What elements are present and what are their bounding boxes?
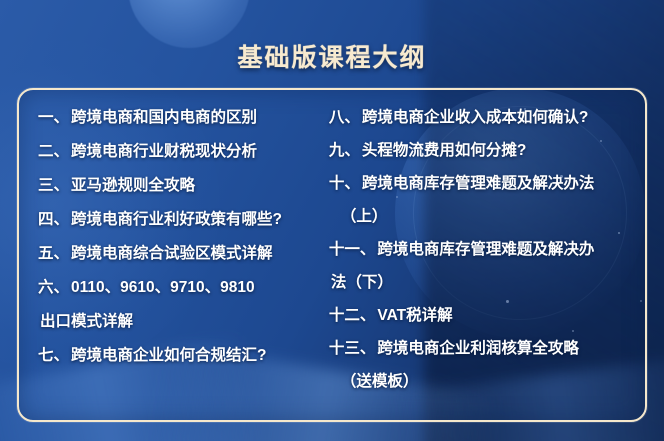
outline-item-label: 跨境电商企业收入成本如何确认? [362,110,588,126]
outline-left-column: 一、 跨境电商和国内电商的区别 二、 跨境电商行业财税现状分析 三、 亚马逊规则… [27,110,327,412]
outline-item-number: 六、 [38,280,69,296]
outline-columns: 一、 跨境电商和国内电商的区别 二、 跨境电商行业财税现状分析 三、 亚马逊规则… [17,88,647,422]
outline-item-label: （送模板） [341,374,419,390]
outline-item-number: 十一、 [329,242,376,258]
outline-item-number: 八、 [329,110,360,126]
course-outline-poster: 基础版课程大纲 一、 跨境电商和国内电商的区别 二、 跨境电商行业财税现状分析 … [0,0,664,441]
outline-item-label: 头程物流费用如何分摊? [362,143,526,159]
outline-item: 九、 头程物流费用如何分摊? [329,143,637,176]
outline-item-label: 跨境电商企业利润核算全攻略 [377,341,579,357]
outline-item-label: （上） [341,209,388,225]
outline-item-number: 三、 [38,178,69,194]
outline-item-number: 五、 [38,246,69,262]
page-title: 基础版课程大纲 [0,38,664,74]
outline-item-continuation: （送模板） [329,374,637,407]
outline-item-continuation: 出口模式详解 [38,314,327,348]
outline-item-label: VAT税详解 [377,308,452,324]
outline-item-label: 跨境电商综合试验区模式详解 [71,246,273,262]
outline-item: 六、 0110、9610、9710、9810 [38,280,327,314]
outline-item: 十、 跨境电商库存管理难题及解决办法 [329,176,637,209]
outline-item-number: 四、 [38,212,69,228]
outline-item: 五、 跨境电商综合试验区模式详解 [38,246,327,280]
outline-item-label: 跨境电商库存管理难题及解决办 [377,242,594,258]
outline-item: 七、 跨境电商企业如何合规结汇? [38,348,327,382]
outline-item-label: 法（下） [331,275,393,291]
outline-item: 十三、 跨境电商企业利润核算全攻略 [329,341,637,374]
outline-item-number: 十、 [329,176,360,192]
outline-item: 二、 跨境电商行业财税现状分析 [38,144,327,178]
outline-item: 十一、 跨境电商库存管理难题及解决办 [329,242,637,275]
outline-item: 四、 跨境电商行业利好政策有哪些? [38,212,327,246]
outline-item: 一、 跨境电商和国内电商的区别 [38,110,327,144]
outline-item-number: 九、 [329,143,360,159]
outline-item-label: 亚马逊规则全攻略 [71,178,195,194]
outline-item-number: 一、 [38,110,69,126]
outline-item-number: 十二、 [329,308,376,324]
outline-item-label: 跨境电商和国内电商的区别 [71,110,257,126]
outline-item-number: 七、 [38,348,69,364]
outline-item-label: 跨境电商行业财税现状分析 [71,144,257,160]
outline-item-label: 跨境电商企业如何合规结汇? [71,348,266,364]
outline-item-continuation: 法（下） [329,275,637,308]
outline-item-label: 0110、9610、9710、9810 [71,280,255,296]
outline-item-continuation: （上） [329,209,637,242]
outline-item: 十二、 VAT税详解 [329,308,637,341]
outline-item-number: 二、 [38,144,69,160]
outline-item-label: 出口模式详解 [40,314,133,330]
outline-right-column: 八、 跨境电商企业收入成本如何确认? 九、 头程物流费用如何分摊? 十、 跨境电… [327,110,637,412]
outline-item-label: 跨境电商库存管理难题及解决办法 [362,176,595,192]
outline-item: 八、 跨境电商企业收入成本如何确认? [329,110,637,143]
outline-item: 三、 亚马逊规则全攻略 [38,178,327,212]
outline-item-label: 跨境电商行业利好政策有哪些? [71,212,282,228]
outline-item-number: 十三、 [329,341,376,357]
